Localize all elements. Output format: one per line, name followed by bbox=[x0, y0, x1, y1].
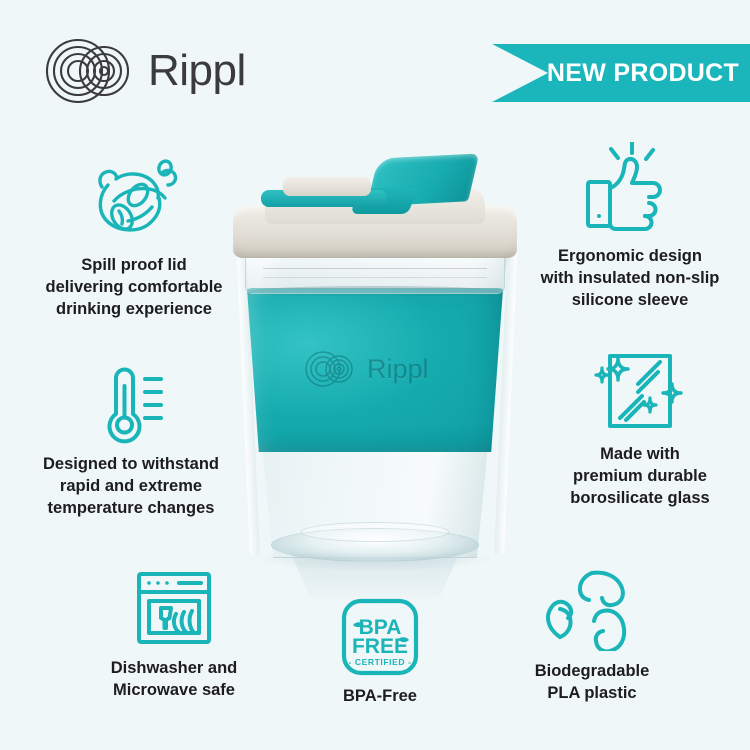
product-image: Rippl bbox=[205, 150, 545, 600]
sleeve-rings-icon bbox=[303, 350, 361, 388]
feature-caption: Made with premium durable borosilicate g… bbox=[570, 444, 709, 510]
brand-name: Rippl bbox=[148, 49, 246, 93]
thermometer-icon bbox=[87, 360, 175, 446]
thumbs-up-icon bbox=[578, 142, 682, 238]
brand-logo: Rippl bbox=[44, 38, 246, 104]
feature-caption: Biodegradable PLA plastic bbox=[535, 661, 650, 705]
ribbon-label: NEW PRODUCT bbox=[547, 59, 739, 88]
cup-glass-base-inner bbox=[301, 522, 449, 542]
coffee-splash-icon bbox=[78, 155, 190, 247]
feature-biodegradable-pla: Biodegradable PLA plastic bbox=[502, 565, 682, 705]
three-leaf-recycling-icon bbox=[544, 565, 640, 651]
feature-borosilicate-glass: Made with premium durable borosilicate g… bbox=[540, 348, 740, 510]
lid-collar-seam bbox=[263, 268, 487, 278]
lid-slider-knob bbox=[283, 177, 371, 196]
sleeve-logo-text: Rippl bbox=[367, 356, 429, 383]
feature-ergonomic-design: Ergonomic design with insulated non-slip… bbox=[520, 142, 740, 312]
sleeve-embossed-logo: Rippl bbox=[303, 348, 455, 390]
feature-caption: Designed to withstand rapid and extreme … bbox=[43, 454, 219, 520]
svg-text:- CERTIFIED -: - CERTIFIED - bbox=[348, 657, 411, 667]
feature-caption: BPA-Free bbox=[343, 686, 417, 708]
new-product-ribbon: NEW PRODUCT bbox=[492, 44, 750, 102]
feature-spill-proof-lid: Spill proof lid delivering comfortable d… bbox=[28, 155, 240, 321]
sparkling-glass-pane-icon bbox=[592, 348, 688, 436]
feature-dishwasher-microwave-safe: Dishwasher and Microwave safe bbox=[84, 568, 264, 702]
feature-caption: Ergonomic design with insulated non-slip… bbox=[541, 246, 720, 312]
feature-temperature-resistance: Designed to withstand rapid and extreme … bbox=[22, 360, 240, 520]
dishwasher-icon bbox=[133, 568, 215, 648]
feature-bpa-free: BPA FREE - CERTIFIED - BPA-Free bbox=[318, 598, 442, 708]
feature-caption: Spill proof lid delivering comfortable d… bbox=[46, 255, 223, 321]
bpa-free-certified-badge-icon: BPA FREE - CERTIFIED - bbox=[340, 598, 420, 676]
svg-text:FREE: FREE bbox=[352, 635, 408, 658]
feature-caption: Dishwasher and Microwave safe bbox=[111, 658, 238, 702]
rippl-concentric-rings-logo-icon bbox=[44, 38, 136, 104]
